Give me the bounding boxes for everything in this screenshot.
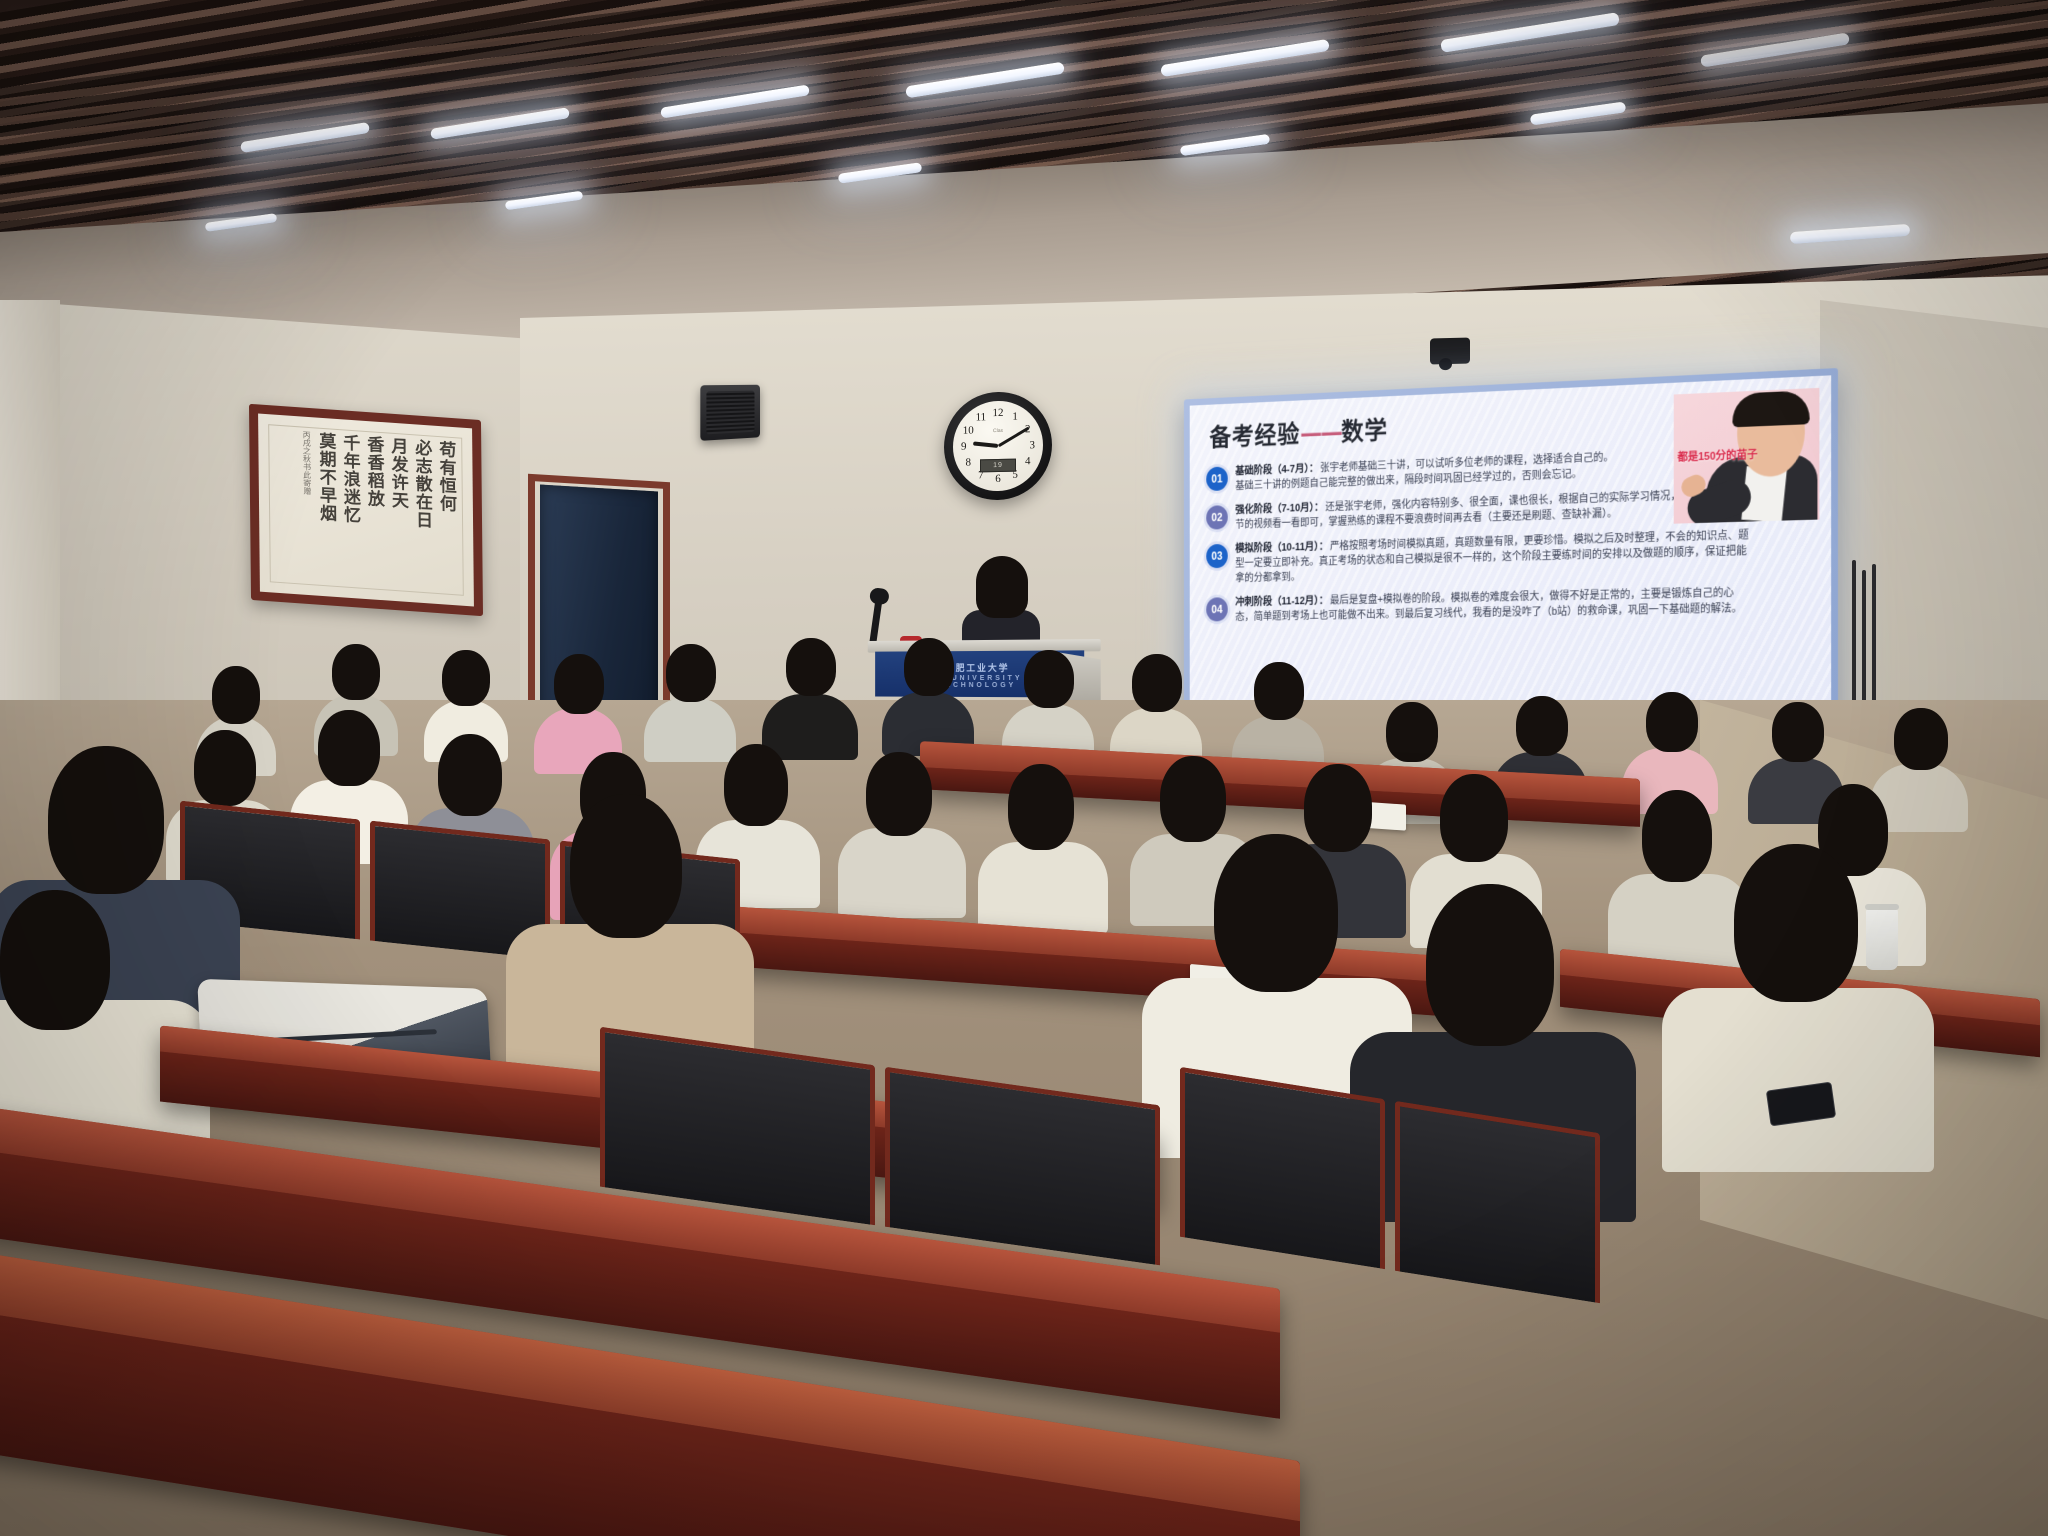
bullet-heading-2: 强化阶段（7-10月）：	[1235, 502, 1323, 516]
calligraphy-inscription: 丙戌之秋书此寄赠	[301, 431, 311, 496]
bullet-number-badge-1: 01	[1206, 466, 1228, 491]
clock-numeral-1: 1	[1012, 411, 1018, 423]
student-head	[318, 710, 380, 786]
speaker-grill	[706, 391, 754, 435]
wall-speaker	[700, 385, 760, 441]
bullet-text-1: 基础阶段（4-7月）：张宇老师基础三十讲，可以试听多位老师的课程，选择适合自己的…	[1235, 450, 1622, 494]
slide-bullet-4: 04 冲刺阶段（11-12月）：最后是复盘+模拟卷的阶段。模拟卷的难度会很大，做…	[1206, 584, 1813, 626]
student-head	[1386, 702, 1438, 762]
clock-numeral-10: 10	[963, 424, 974, 436]
student-head	[554, 654, 604, 714]
calligraphy-col-4: 香香稻放	[363, 435, 383, 508]
student-head	[212, 666, 260, 724]
bullet-text-4: 冲刺阶段（11-12月）：最后是复盘+模拟卷的阶段。模拟卷的难度会很大，做得不好…	[1235, 585, 1754, 625]
lecture-hall-photo: 苟有恒何 必志散在日 月发许天 香香稻放 千年浪迷忆 莫期不早烟 丙戌之秋书此寄…	[0, 0, 2048, 1536]
clock-date-window: 19	[980, 458, 1016, 472]
student-head	[1024, 650, 1074, 708]
student-head	[724, 744, 788, 826]
bullet-heading-4: 冲刺阶段（11-12月）：	[1235, 595, 1328, 608]
student-head	[1772, 702, 1824, 762]
student-head	[442, 650, 490, 706]
student-head	[1214, 834, 1338, 992]
clock-face: 12 1 2 3 4 5 6 7 8 9 10 11 Clas 19	[953, 400, 1043, 492]
student-far-7	[890, 636, 964, 752]
student-head	[438, 734, 502, 816]
student-head	[1646, 692, 1698, 752]
slide-title-sub: 数学	[1341, 417, 1388, 447]
student-head	[1008, 764, 1074, 850]
student-head	[48, 746, 164, 894]
bullet-body-3: 严格按照考场时间模拟真题，真题数量有限，更要珍惜。模拟之后及时整理，不会的知识点…	[1235, 529, 1748, 584]
clock-hour-hand	[973, 441, 998, 448]
presenter-hair	[976, 556, 1028, 618]
student-head	[332, 644, 380, 700]
clock-numeral-9: 9	[961, 441, 967, 453]
clock-numeral-8: 8	[966, 457, 972, 469]
bullet-text-3: 模拟阶段（10-11月）：严格按照考场时间模拟真题，真题数量有限，更要珍惜。模拟…	[1235, 528, 1754, 586]
student-torso	[978, 842, 1108, 934]
calligraphy-mat: 苟有恒何 必志散在日 月发许天 香香稻放 千年浪迷忆 莫期不早烟 丙戌之秋书此寄…	[258, 413, 474, 606]
framed-calligraphy: 苟有恒何 必志散在日 月发许天 香香稻放 千年浪迷忆 莫期不早烟 丙戌之秋书此寄…	[249, 404, 483, 616]
chair[interactable]	[1180, 1067, 1385, 1269]
student-head	[0, 890, 110, 1030]
student-head	[904, 638, 954, 696]
clock-numeral-4: 4	[1025, 456, 1031, 468]
student-head	[1516, 696, 1568, 756]
teacher-photo-caption: 都是150分的苗子	[1677, 446, 1757, 465]
student-head	[1734, 844, 1858, 1002]
teacher-photo: 都是150分的苗子	[1674, 388, 1820, 524]
student-head	[570, 794, 682, 938]
bullet-heading-3: 模拟阶段（10-11月）：	[1235, 541, 1328, 555]
student-far-9	[1118, 652, 1192, 768]
clock-numeral-3: 3	[1029, 439, 1035, 451]
student-head	[1254, 662, 1304, 720]
ceiling-camera	[1430, 337, 1470, 364]
student-head	[666, 644, 716, 702]
clock-numeral-12: 12	[993, 407, 1004, 419]
clock-numeral-6: 6	[995, 473, 1001, 485]
student-torso	[1662, 988, 1934, 1172]
calligraphy-col-5: 千年浪迷忆	[339, 433, 359, 524]
student-head	[1132, 654, 1182, 712]
calligraphy-col-1: 苟有恒何	[435, 440, 455, 513]
bullet-heading-1: 基础阶段（4-7月）：	[1235, 463, 1318, 477]
student-mid-6	[848, 748, 950, 910]
student-head	[866, 752, 932, 836]
bullet-number-badge-4: 04	[1206, 597, 1228, 621]
student-far-6-logo	[770, 636, 848, 756]
slide-bullet-3: 03 模拟阶段（10-11月）：严格按照考场时间模拟真题，真题数量有限，更要珍惜…	[1206, 526, 1813, 587]
calligraphy-col-3: 月发许天	[387, 437, 407, 510]
bullet-number-badge-2: 02	[1206, 505, 1228, 530]
student-head	[786, 638, 836, 696]
chair[interactable]	[1395, 1101, 1600, 1303]
slide-title-main: 备考经验	[1210, 421, 1301, 453]
calligraphy-col-6: 莫期不早烟	[315, 432, 335, 523]
student-torso	[838, 828, 966, 918]
bullet-text-2: 强化阶段（7-10月）：还是张宇老师，强化内容特别多、很全面，课也很长，根据自己…	[1235, 487, 1735, 533]
calligraphy-col-2: 必志散在日	[411, 438, 431, 529]
bullet-number-badge-3: 03	[1206, 544, 1228, 568]
clock-brand: Clas	[993, 428, 1003, 434]
slide-title-dash: ——	[1300, 419, 1341, 449]
clock-numeral-11: 11	[976, 411, 987, 423]
student-head	[1894, 708, 1948, 770]
student-head	[1426, 884, 1554, 1046]
student-head	[1440, 774, 1508, 862]
student-mid-7	[988, 760, 1092, 926]
